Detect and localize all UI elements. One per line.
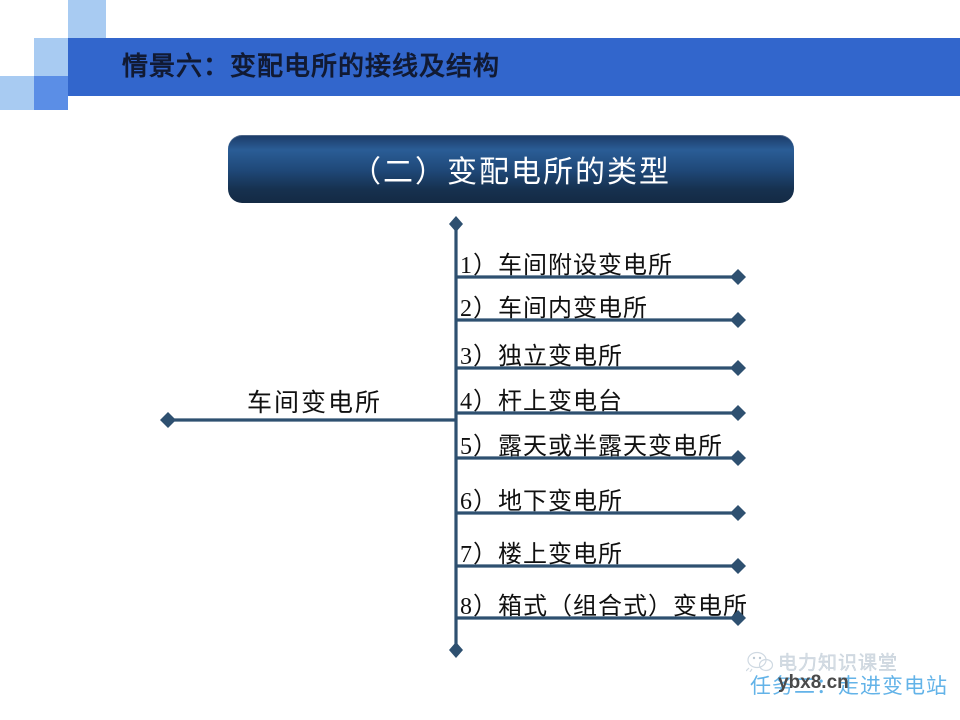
branch-diamond-8 — [730, 610, 746, 626]
watermark: 电力知识课堂 任务二：走进变电站 ybx8.cn — [744, 646, 960, 708]
branch-diamond-6 — [730, 505, 746, 521]
wechat-smiley-icon — [746, 650, 774, 672]
slide-header-bar: 情景六：变配电所的接线及结构 — [68, 38, 960, 96]
branch-diamond-1 — [730, 269, 746, 285]
watermark-site-text: ybx8.cn — [778, 672, 849, 694]
spine-top-diamond — [449, 216, 463, 232]
branch-diamond-4 — [730, 405, 746, 421]
branch-diamond-2 — [730, 312, 746, 328]
branch-diamond-5 — [730, 450, 746, 466]
page-title: 情景六：变配电所的接线及结构 — [122, 38, 500, 96]
bracket-diagram — [0, 0, 960, 720]
root-diamond — [160, 412, 176, 428]
section-title-banner: （二）变配电所的类型 — [228, 135, 794, 203]
slide-canvas: 情景六：变配电所的接线及结构 （二）变配电所的类型 — [0, 0, 960, 720]
spine-bottom-diamond — [449, 642, 463, 658]
section-title-text: （二）变配电所的类型 — [351, 147, 671, 191]
branch-diamond-7 — [730, 558, 746, 574]
branch-diamond-3 — [730, 360, 746, 376]
